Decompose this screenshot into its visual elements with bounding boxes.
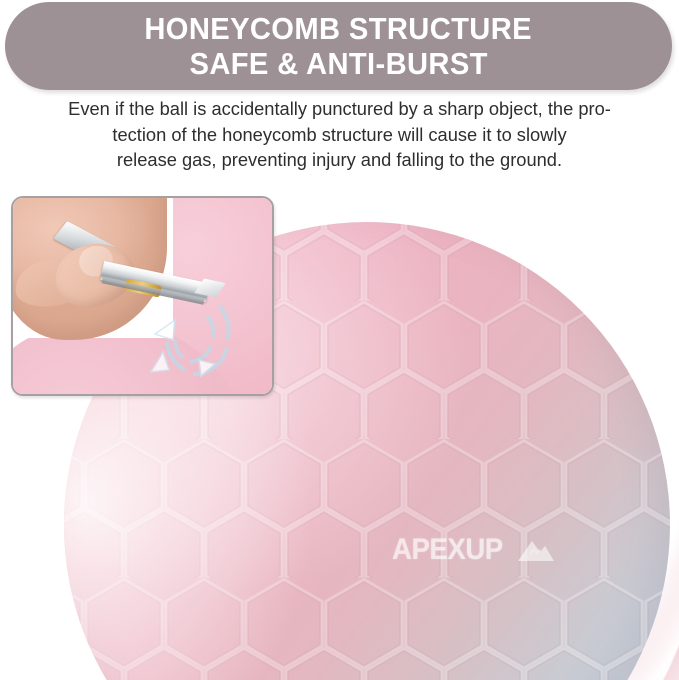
description-line-1: Even if the ball is accidentally punctur… xyxy=(22,96,657,122)
headline-line-1: HONEYCOMB STRUCTURE xyxy=(145,11,533,46)
headline-banner: HONEYCOMB STRUCTURE SAFE & ANTI-BURST xyxy=(5,2,672,90)
product-feature-image: APEXUP HONEYCOMB STRUCTURE SAFE & ANTI-B… xyxy=(0,0,679,680)
description-line-3: release gas, preventing injury and falli… xyxy=(22,147,657,173)
gas-release-arrows-icon xyxy=(141,290,241,386)
inset-photo-card xyxy=(11,196,274,396)
description-line-2: tection of the honeycomb structure will … xyxy=(22,122,657,148)
inset-scene xyxy=(13,198,272,394)
headline-line-2: SAFE & ANTI-BURST xyxy=(189,46,487,81)
description-text: Even if the ball is accidentally punctur… xyxy=(22,96,657,173)
